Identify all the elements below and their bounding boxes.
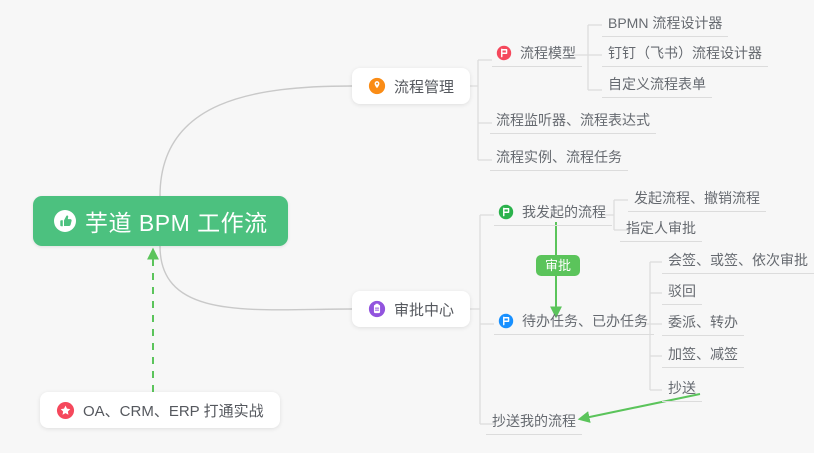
node-process-listener-expression[interactable]: 流程监听器、流程表达式 xyxy=(490,110,656,134)
node-add-remove-sign[interactable]: 加签、减签 xyxy=(662,344,744,368)
node-todo-done-tasks[interactable]: 待办任务、已办任务 xyxy=(494,311,654,335)
node-label: 流程模型 xyxy=(520,43,576,63)
thumbs-up-icon xyxy=(53,209,77,233)
flag-icon xyxy=(498,313,514,329)
node-label: 指定人审批 xyxy=(626,218,696,238)
node-dingtalk-feishu-designer[interactable]: 钉钉（飞书）流程设计器 xyxy=(602,43,768,67)
root-label: 芋道 BPM 工作流 xyxy=(85,204,268,238)
node-custom-process-form[interactable]: 自定义流程表单 xyxy=(602,74,712,98)
node-label: 抄送 xyxy=(668,378,696,398)
node-label: 加签、减签 xyxy=(668,344,738,364)
annotation-label: 审批 xyxy=(545,259,571,272)
branch-node-approval-center[interactable]: 审批中心 xyxy=(352,291,470,327)
node-label: BPMN 流程设计器 xyxy=(608,13,722,33)
node-label: 我发起的流程 xyxy=(522,202,606,222)
node-countersign-orsign-sequential[interactable]: 会签、或签、依次审批 xyxy=(662,250,814,274)
node-cc-to-me-process[interactable]: 抄送我的流程 xyxy=(486,411,582,435)
flag-icon xyxy=(496,45,512,61)
node-label: 抄送我的流程 xyxy=(492,411,576,431)
branch-label: 审批中心 xyxy=(394,299,454,320)
root-node[interactable]: 芋道 BPM 工作流 xyxy=(33,196,288,246)
node-assignee-approval[interactable]: 指定人审批 xyxy=(620,218,702,242)
node-integration-practice[interactable]: OA、CRM、ERP 打通实战 xyxy=(40,392,280,428)
clipboard-icon xyxy=(368,300,386,318)
node-reject[interactable]: 驳回 xyxy=(662,281,702,305)
node-my-initiated-process[interactable]: 我发起的流程 xyxy=(494,202,612,226)
branch-label: 流程管理 xyxy=(394,76,454,97)
star-icon xyxy=(56,401,75,420)
flag-icon xyxy=(498,204,514,220)
node-label: 待办任务、已办任务 xyxy=(522,311,648,331)
annotation-badge-approval: 审批 xyxy=(536,255,580,276)
node-label: 会签、或签、依次审批 xyxy=(668,250,808,270)
node-carbon-copy[interactable]: 抄送 xyxy=(662,378,702,402)
node-delegate-transfer[interactable]: 委派、转办 xyxy=(662,312,744,336)
node-label: 钉钉（飞书）流程设计器 xyxy=(608,43,762,63)
node-label: 发起流程、撤销流程 xyxy=(634,188,760,208)
node-label: OA、CRM、ERP 打通实战 xyxy=(83,400,264,421)
node-label: 自定义流程表单 xyxy=(608,74,706,94)
mindmap-canvas[interactable]: 芋道 BPM 工作流 流程管理 流程模型 BPMN 流程设计器 钉钉（飞书）流程… xyxy=(0,0,814,453)
node-label: 流程实例、流程任务 xyxy=(496,147,622,167)
node-process-model[interactable]: 流程模型 xyxy=(492,43,582,67)
branch-node-process-management[interactable]: 流程管理 xyxy=(352,68,470,104)
node-label: 委派、转办 xyxy=(668,312,738,332)
node-start-cancel-process[interactable]: 发起流程、撤销流程 xyxy=(628,188,766,212)
node-bpmn-designer[interactable]: BPMN 流程设计器 xyxy=(602,13,728,37)
node-label: 流程监听器、流程表达式 xyxy=(496,110,650,130)
node-label: 驳回 xyxy=(668,281,696,301)
location-pin-icon xyxy=(368,77,386,95)
node-process-instance-task[interactable]: 流程实例、流程任务 xyxy=(490,147,628,171)
